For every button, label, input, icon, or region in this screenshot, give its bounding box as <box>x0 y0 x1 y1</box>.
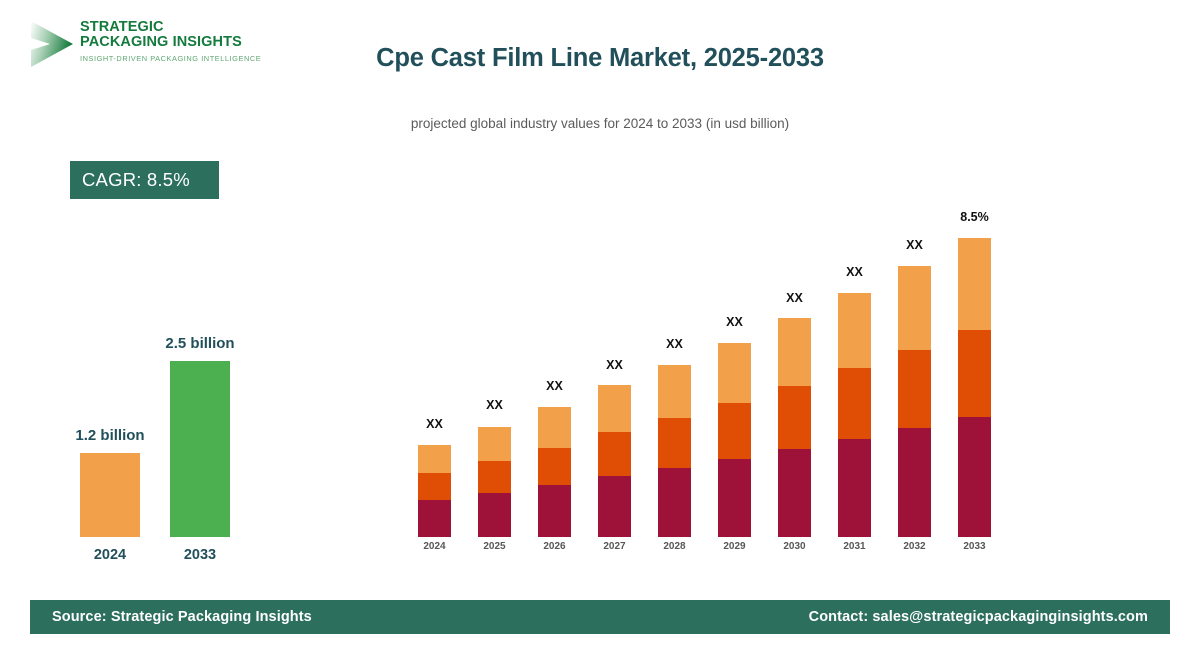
stacked-bar-segment <box>478 493 511 537</box>
stacked-bar-top-label: XX <box>880 238 950 252</box>
stacked-bar-segment <box>538 407 571 448</box>
stacked-bar-top-label: XX <box>460 398 530 412</box>
stacked-bar-segment <box>718 459 751 537</box>
stacked-bar-top-label: XX <box>520 379 590 393</box>
stacked-bar-segment <box>418 500 451 537</box>
stacked-bar <box>958 238 991 537</box>
stacked-bar <box>418 445 451 537</box>
stacked-bar-segment <box>538 485 571 537</box>
footer-source: Source: Strategic Packaging Insights <box>52 609 312 625</box>
stacked-bar-segment <box>598 432 631 476</box>
stacked-bar-segment <box>778 449 811 537</box>
stacked-bar-segment <box>478 461 511 493</box>
stacked-bar <box>898 266 931 537</box>
stacked-bar-segment <box>898 428 931 537</box>
stacked-bar-segment <box>658 468 691 537</box>
stacked-bar-year-label: 2033 <box>940 541 1010 552</box>
stacked-bar-segment <box>658 365 691 418</box>
stacked-bar-segment <box>418 445 451 473</box>
stacked-bar-segment <box>838 293 871 368</box>
stacked-bar-segment <box>958 330 991 417</box>
stacked-bar-segment <box>778 318 811 386</box>
stacked-bar-top-label: 8.5% <box>940 210 1010 224</box>
stacked-bar-chart: XX2024XX2025XX2026XX2027XX2028XX2029XX20… <box>0 0 1200 650</box>
stacked-bar-top-label: XX <box>760 291 830 305</box>
stacked-bar-segment <box>598 476 631 537</box>
stacked-bar-top-label: XX <box>400 417 470 431</box>
stacked-bar-segment <box>718 343 751 403</box>
stacked-bar <box>478 426 511 537</box>
stacked-bar <box>778 319 811 537</box>
stacked-bar-segment <box>958 417 991 537</box>
stacked-bar-segment <box>538 448 571 485</box>
stacked-bar-top-label: XX <box>640 337 710 351</box>
stacked-bar-segment <box>478 427 511 461</box>
footer-bar: Source: Strategic Packaging Insights Con… <box>30 600 1170 634</box>
stacked-bar <box>718 343 751 537</box>
stacked-bar-segment <box>718 403 751 459</box>
stacked-bar-top-label: XX <box>820 265 890 279</box>
stacked-bar-segment <box>598 385 631 432</box>
stacked-bar <box>838 293 871 537</box>
stacked-bar-top-label: XX <box>700 315 770 329</box>
stacked-bar <box>538 407 571 537</box>
infographic-canvas: STRATEGIC PACKAGING INSIGHTS INSIGHT-DRI… <box>0 0 1200 650</box>
stacked-bar-segment <box>418 473 451 500</box>
stacked-bar <box>598 386 631 537</box>
stacked-bar-segment <box>838 439 871 537</box>
stacked-bar-segment <box>838 368 871 439</box>
footer-contact: Contact: sales@strategicpackaginginsight… <box>809 609 1148 625</box>
stacked-bar-segment <box>958 238 991 330</box>
stacked-bar-segment <box>658 418 691 468</box>
stacked-bar <box>658 365 691 537</box>
stacked-bar-segment <box>898 350 931 428</box>
stacked-bar-segment <box>898 266 931 350</box>
stacked-bar-top-label: XX <box>580 358 650 372</box>
stacked-bar-segment <box>778 386 811 449</box>
